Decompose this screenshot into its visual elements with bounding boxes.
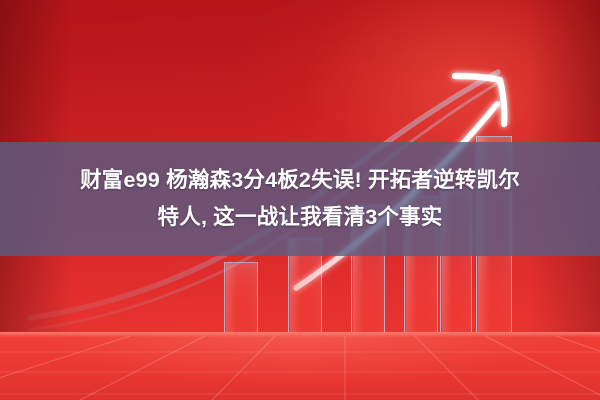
headline-text: 财富e99 杨瀚森3分4板2失误! 开拓者逆转凯尔 特人, 这一战让我看清3个事…	[0, 162, 600, 236]
banner-image: 财富e99 杨瀚森3分4板2失误! 开拓者逆转凯尔 特人, 这一战让我看清3个事…	[0, 0, 600, 400]
headline-band: 财富e99 杨瀚森3分4板2失误! 开拓者逆转凯尔 特人, 这一战让我看清3个事…	[0, 142, 600, 256]
floor-grid	[0, 332, 600, 400]
perspective-floor	[0, 332, 600, 400]
